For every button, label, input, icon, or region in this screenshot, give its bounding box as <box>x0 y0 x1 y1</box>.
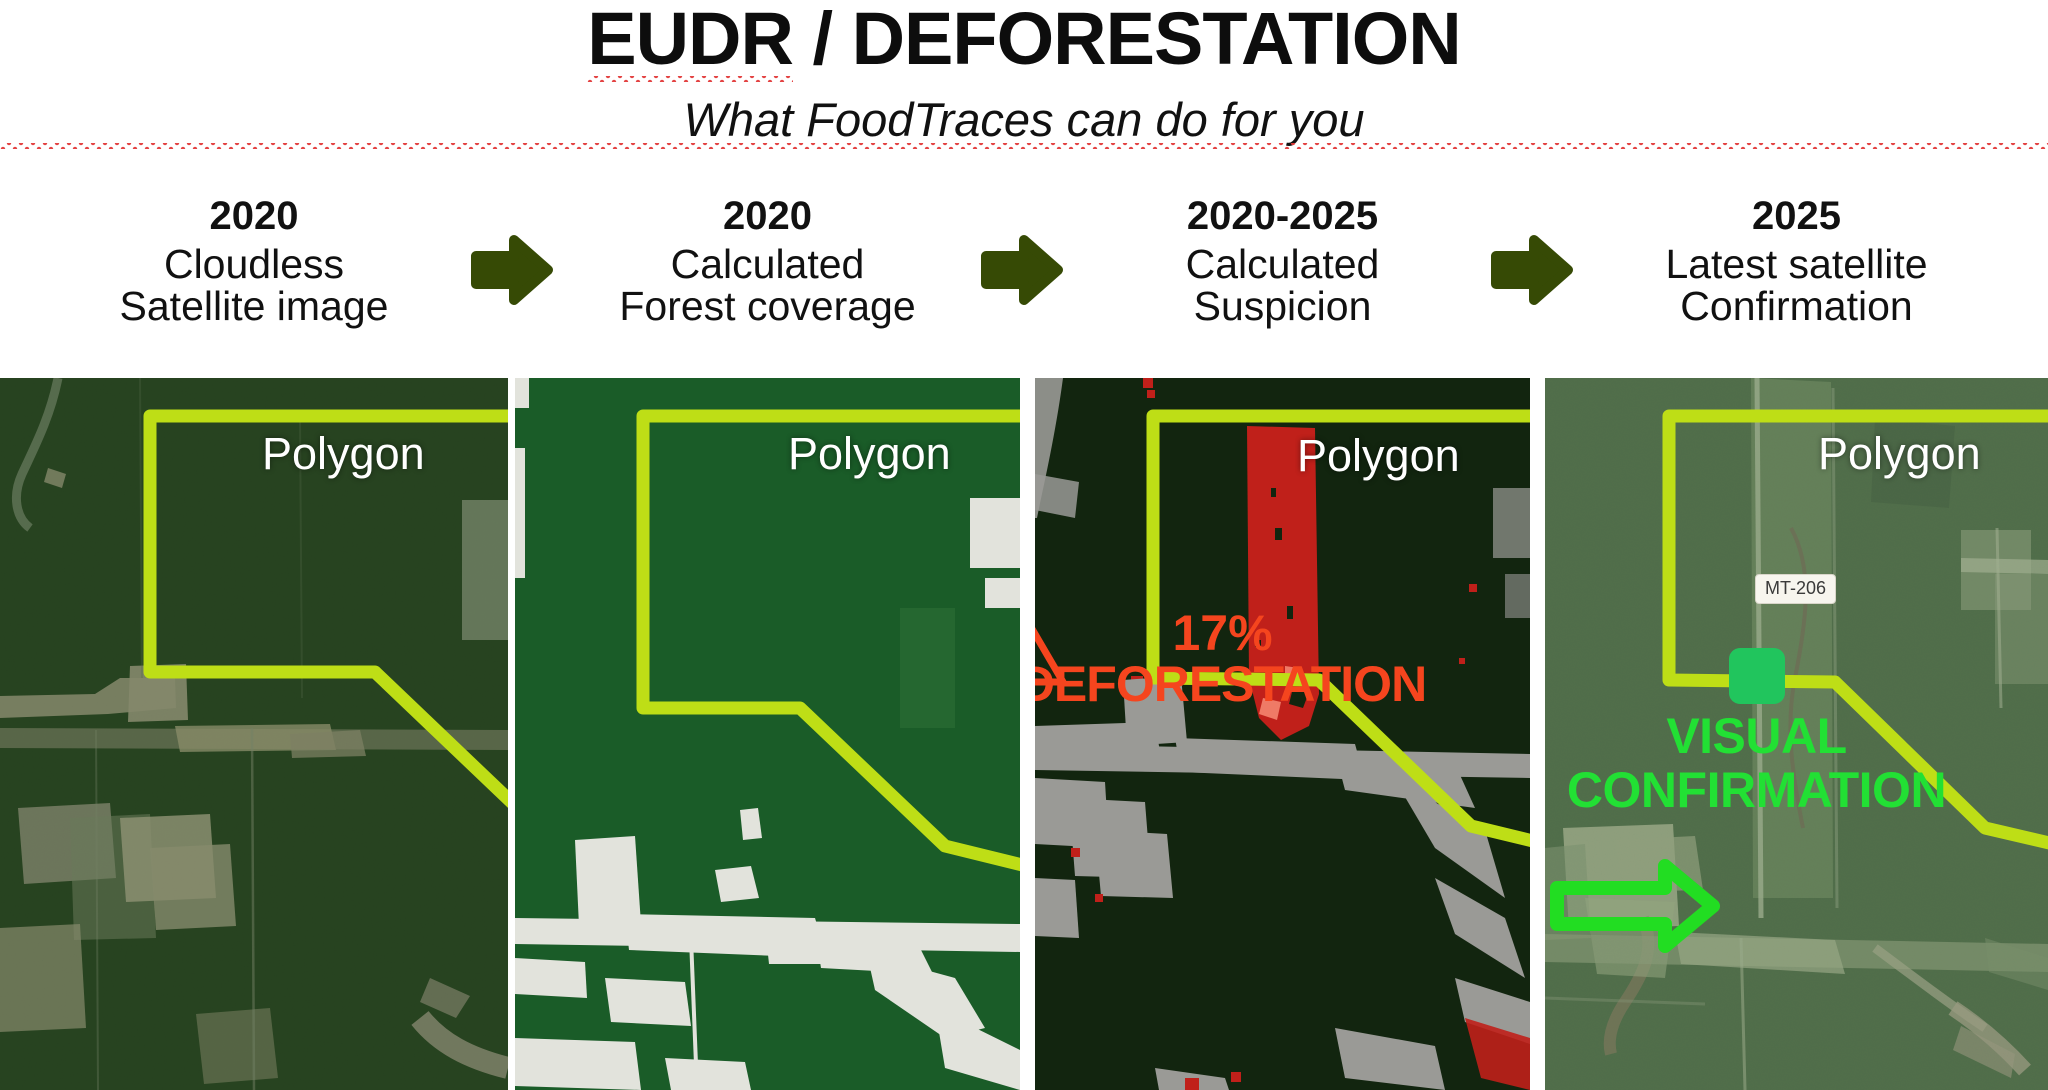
step-4-line2: Confirmation <box>1545 285 2048 328</box>
spellcheck-underline-brand <box>0 143 2048 149</box>
subtitle-suffix: can do for you <box>1054 93 1365 146</box>
step-2-year: 2020 <box>515 196 1020 238</box>
deforestation-alert: 17% DEFORESTATION <box>1035 604 1470 711</box>
satellite-image-2020 <box>0 378 508 1090</box>
step-4-year: 2025 <box>1545 196 2048 238</box>
step-4-line1: Latest satellite <box>1545 243 2048 286</box>
polygon-label: Polygon <box>1297 430 1460 482</box>
step-header-1: 2020 Cloudless Satellite image <box>0 196 508 328</box>
panel-2020-satellite[interactable]: Polygon <box>0 378 508 1090</box>
step-2-line2: Forest coverage <box>515 285 1020 328</box>
confirmation-line2: CONFIRMATION <box>1545 763 2008 817</box>
step-1-year: 2020 <box>0 196 508 238</box>
polygon-label: Polygon <box>788 428 951 480</box>
step-1-line1: Cloudless <box>0 243 508 286</box>
step-2-line1: Calculated <box>515 243 1020 286</box>
step-1-line2: Satellite image <box>0 285 508 328</box>
subtitle-prefix: What <box>684 93 807 146</box>
step-3-line2: Suspicion <box>1035 285 1530 328</box>
step-header-3: 2020-2025 Calculated Suspicion <box>1035 196 1530 328</box>
step-header-2: 2020 Calculated Forest coverage <box>515 196 1020 328</box>
forest-coverage-mask-2020 <box>515 378 1020 1090</box>
title-rest: / DEFORESTATION <box>793 0 1461 80</box>
slide-root: EUDR / DEFORESTATION What FoodTraces can… <box>0 0 2048 1090</box>
panel-2020-2025-suspicion[interactable]: Polygon 17% DEFORESTATION <box>1035 378 1530 1090</box>
warning-triangle-icon <box>1035 604 1067 688</box>
step-3-line1: Calculated <box>1035 243 1530 286</box>
spellcheck-underline-eudr <box>587 76 793 82</box>
polygon-label: Polygon <box>1818 428 1981 480</box>
step-header-4: 2025 Latest satellite Confirmation <box>1545 196 2048 328</box>
page-title: EUDR / DEFORESTATION <box>0 0 2048 81</box>
page-subtitle: What FoodTraces can do for you <box>0 92 2048 147</box>
road-label-mt206: MT-206 <box>1755 574 1836 604</box>
deforestation-percent: 17% <box>1035 608 1470 658</box>
polygon-label: Polygon <box>262 428 425 480</box>
step-3-year: 2020-2025 <box>1035 196 1530 238</box>
flow-arrow-2 <box>980 234 1064 306</box>
subtitle-brand: FoodTraces <box>806 93 1053 146</box>
flow-arrow-3 <box>1490 234 1574 306</box>
change-detection-map <box>1035 378 1530 1090</box>
title-eudr-word: EUDR <box>587 0 793 83</box>
visual-confirmation-badge: VISUAL CONFIRMATION <box>1545 648 2008 817</box>
panel-2020-forest-coverage[interactable]: Polygon <box>515 378 1020 1090</box>
flow-arrow-1 <box>470 234 554 306</box>
confirmation-line1: VISUAL <box>1545 709 2008 763</box>
check-mark-icon <box>1729 648 1785 704</box>
panel-2025-confirmation[interactable]: Polygon MT-206 VISUAL CONFIRMATION <box>1545 378 2048 1090</box>
deforestation-label: DEFORESTATION <box>1035 658 1470 711</box>
